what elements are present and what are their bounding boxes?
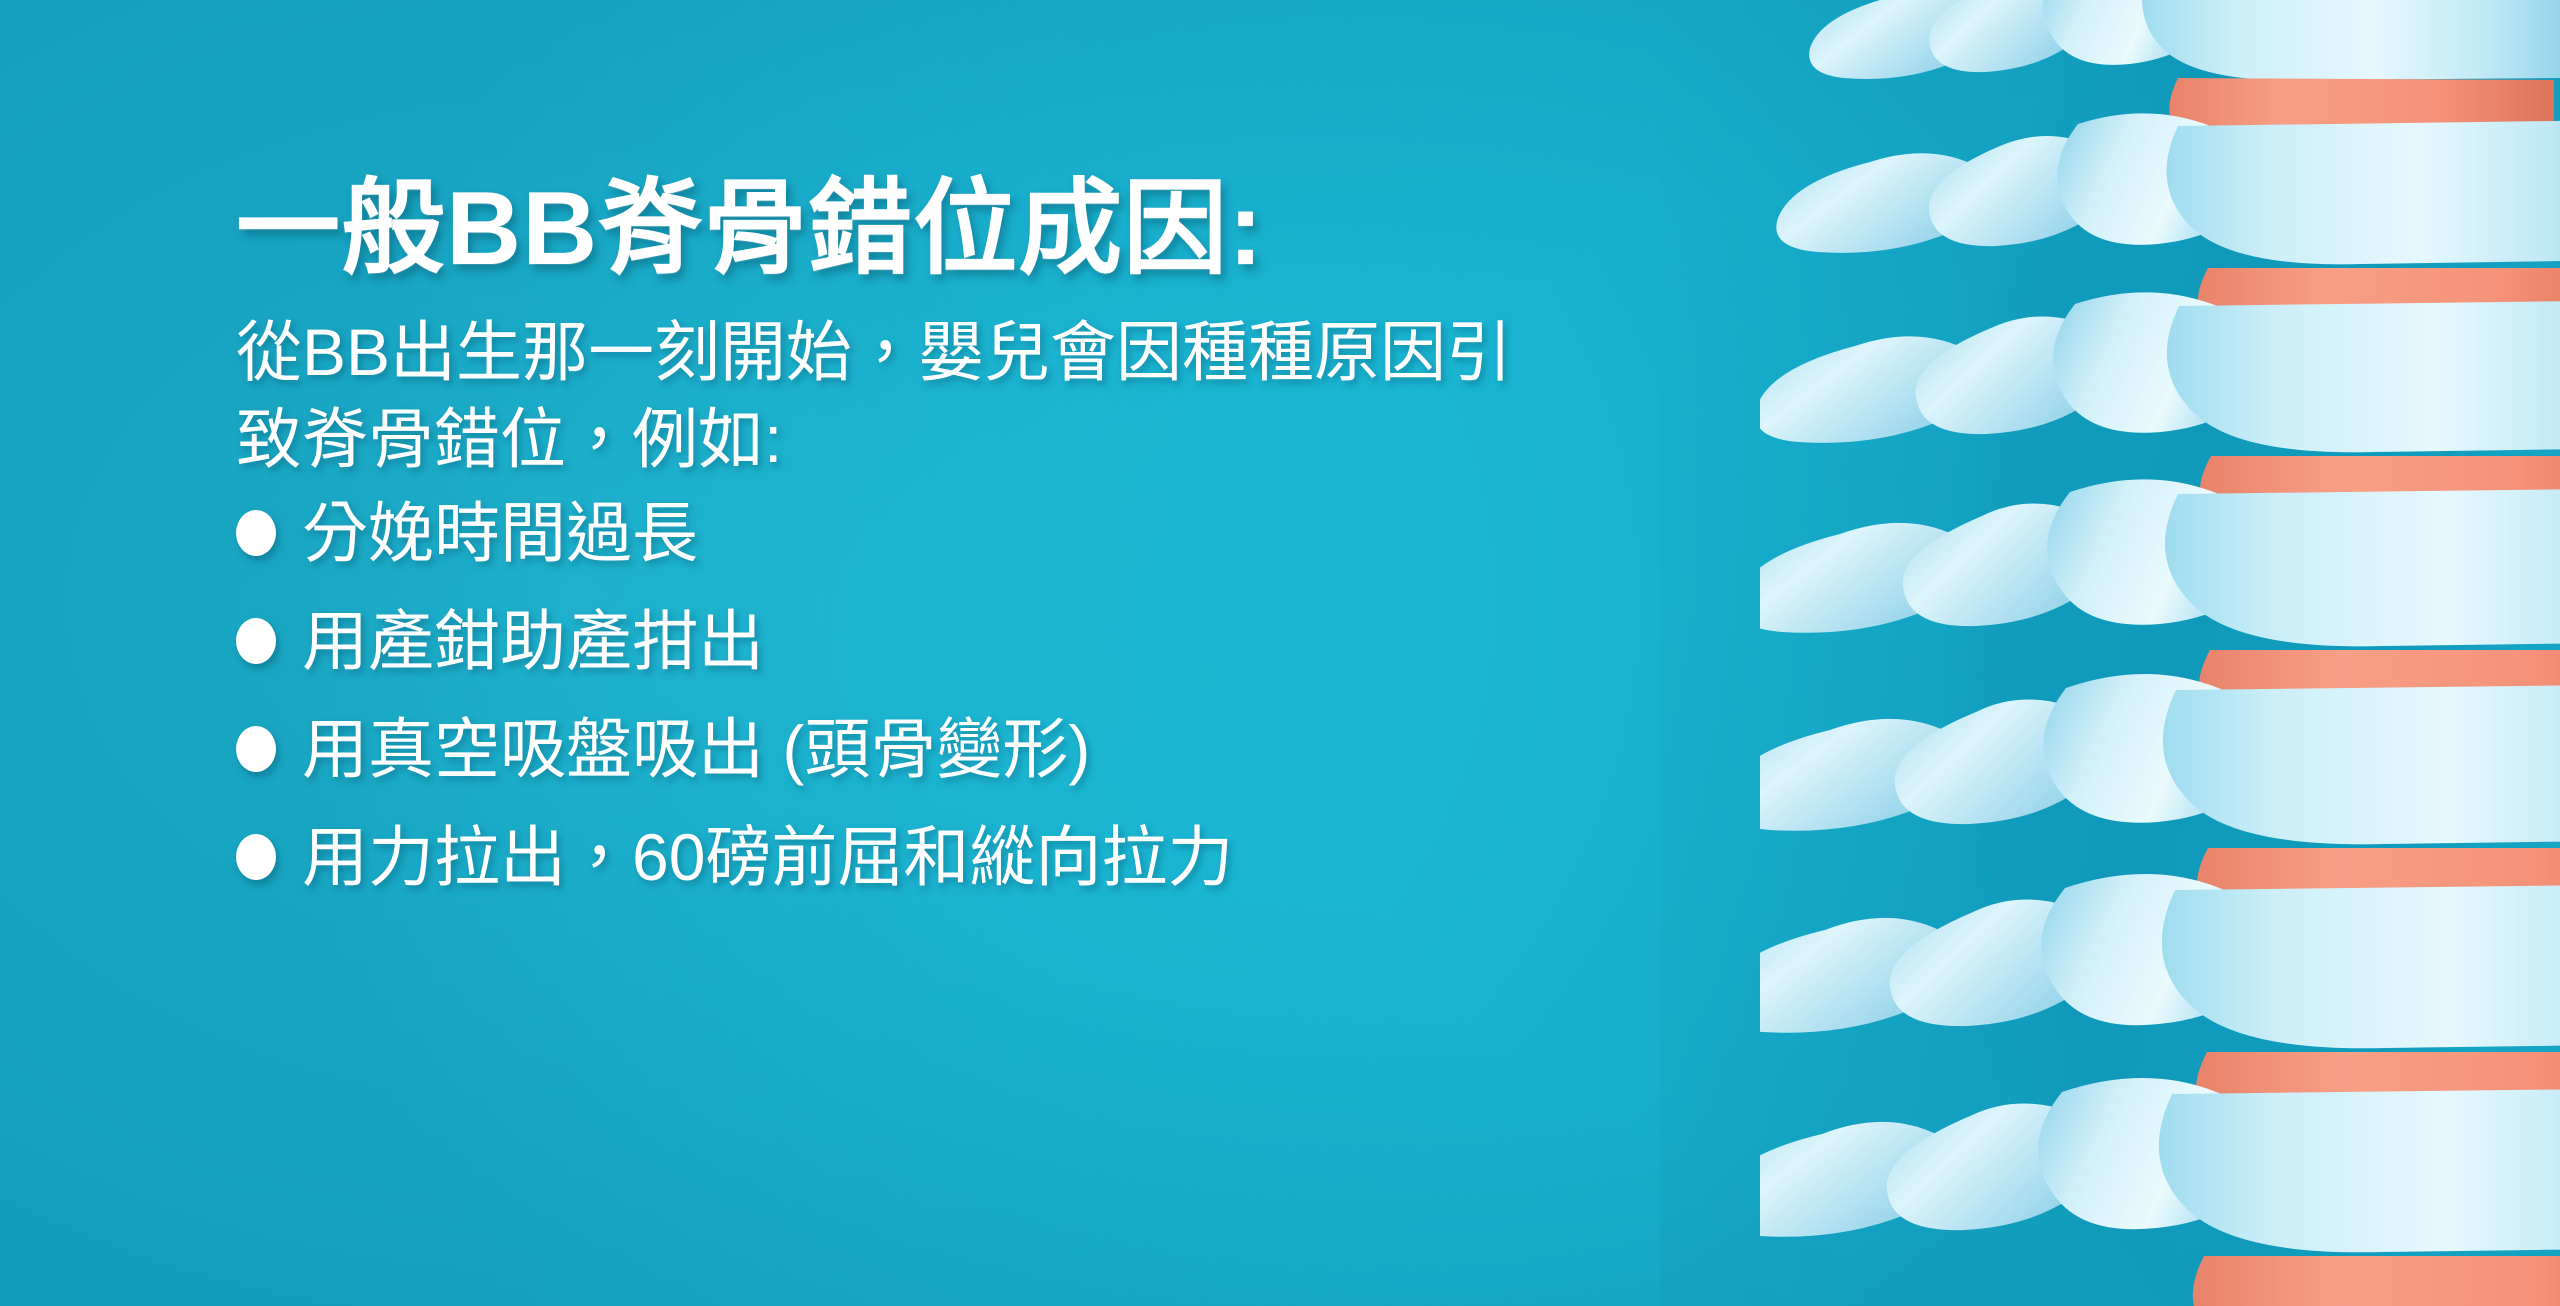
text-content: 一般BB脊骨錯位成因: 從BB出生那一刻開始，嬰兒會因種種原因引 致脊骨錯位，例… (236, 168, 1756, 932)
bullet-dot-icon (236, 618, 276, 664)
list-item: 用產鉗助產拑出 (236, 608, 1756, 674)
bullet-dot-icon (236, 510, 276, 556)
bullet-dot-icon (236, 726, 276, 772)
list-item-label: 用產鉗助產拑出 (302, 608, 764, 674)
list-item: 用力拉出，60磅前屈和縱向拉力 (236, 824, 1756, 890)
list-item-label: 分娩時間過長 (302, 500, 698, 566)
list-item-label: 用力拉出，60磅前屈和縱向拉力 (302, 824, 1233, 890)
cause-list: 分娩時間過長 用產鉗助產拑出 用真空吸盤吸出 (頭骨變形) 用力拉出，60磅前屈… (236, 500, 1756, 890)
infographic-slide: 一般BB脊骨錯位成因: 從BB出生那一刻開始，嬰兒會因種種原因引 致脊骨錯位，例… (0, 0, 2560, 1306)
intro-paragraph-line-2: 致脊骨錯位，例如: (236, 396, 1756, 484)
intro-paragraph: 從BB出生那一刻開始，嬰兒會因種種原因引 致脊骨錯位，例如: (236, 309, 1756, 485)
intro-paragraph-line-1: 從BB出生那一刻開始，嬰兒會因種種原因引 (236, 309, 1756, 397)
spine-vertebrae-illustration (1760, 0, 2560, 1306)
page-title: 一般BB脊骨錯位成因: (236, 168, 1756, 291)
list-item: 用真空吸盤吸出 (頭骨變形) (236, 716, 1756, 782)
list-item: 分娩時間過長 (236, 500, 1756, 566)
list-item-label: 用真空吸盤吸出 (頭骨變形) (302, 716, 1090, 782)
bullet-dot-icon (236, 834, 276, 880)
